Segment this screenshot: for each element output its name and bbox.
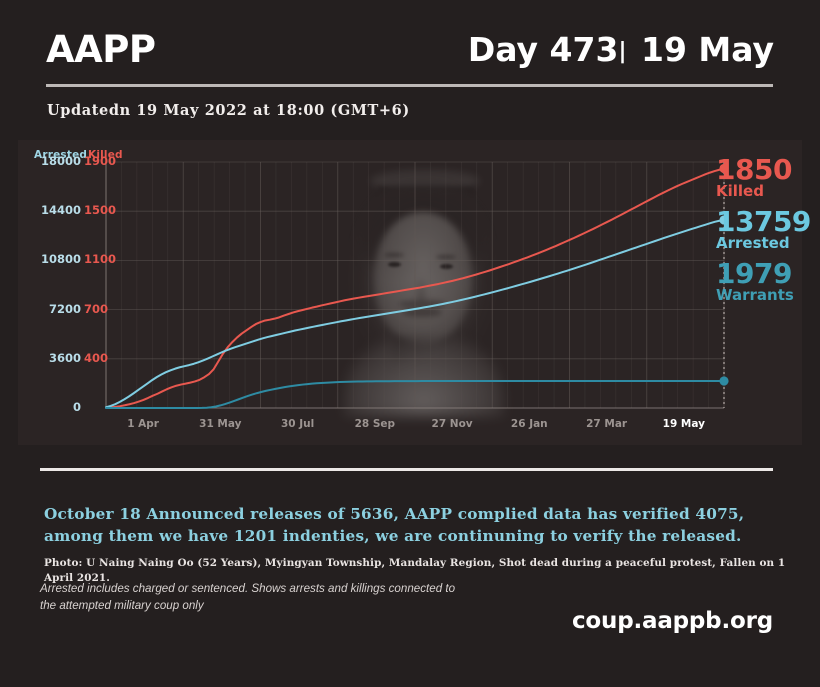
y-tick-left-14400: 14400 (23, 203, 81, 217)
grid-lines (106, 162, 724, 408)
y-tick-left-0: 0 (23, 400, 81, 414)
y-tick-left-7200: 7200 (23, 302, 81, 316)
x-tick-27-nov: 27 Nov (432, 418, 473, 430)
infographic-root: AAPP Day 473| 19 May Updatedn 19 May 202… (0, 0, 820, 687)
endlabel-warrants-value: 1979 (716, 260, 794, 287)
plot-area (18, 140, 802, 445)
x-tick-31-may: 31 May (199, 418, 241, 430)
release-statement: October 18 Announced releases of 5636, A… (44, 503, 779, 547)
x-tick-27-mar: 27 Mar (586, 418, 627, 430)
y-tick-left-10800: 10800 (23, 252, 81, 266)
y-tick-left-18000: 18000 (23, 154, 81, 168)
day-counter-separator: | (618, 39, 629, 64)
y-tick-right-1100: 1100 (84, 252, 124, 266)
y-tick-right-1500: 1500 (84, 203, 124, 217)
y-tick-right-400: 400 (84, 351, 124, 365)
endlabel-killed: 1850 Killed (716, 156, 792, 200)
x-tick-1-apr: 1 Apr (127, 418, 159, 430)
y-tick-right-700: 700 (84, 302, 124, 316)
header-divider (46, 84, 773, 87)
website-url[interactable]: coup.aappb.org (572, 608, 773, 634)
endlabel-arrested-value: 13759 (716, 208, 811, 235)
x-tick-19-may: 19 May (663, 418, 705, 430)
x-tick-28-sep: 28 Sep (355, 418, 395, 430)
disclaimer-note: Arrested includes charged or sentenced. … (40, 580, 460, 614)
footer-divider (40, 468, 773, 471)
updated-timestamp: Updatedn 19 May 2022 at 18:00 (GMT+6) (47, 102, 410, 119)
brand-title: AAPP (46, 28, 156, 72)
header: AAPP Day 473| 19 May (46, 28, 774, 84)
line-chart (18, 140, 802, 445)
endlabel-arrested: 13759 Arrested (716, 208, 811, 252)
day-counter: Day 473| 19 May (468, 28, 774, 77)
day-counter-number: Day 473 (468, 30, 619, 69)
y-tick-left-3600: 3600 (23, 351, 81, 365)
x-tick-26-jan: 26 Jan (511, 418, 548, 430)
endlabel-killed-value: 1850 (716, 156, 792, 183)
day-counter-date: 19 May (641, 30, 774, 69)
series-endpoint-warrants (719, 376, 728, 385)
endlabel-warrants: 1979 Warrants (716, 260, 794, 304)
chart-panel: Arrested Killed 036007200108001440018000… (18, 140, 802, 445)
endlabel-warrants-caption: Warrants (716, 287, 794, 304)
x-tick-30-jul: 30 Jul (281, 418, 314, 430)
y-tick-right-1900: 1900 (84, 154, 124, 168)
